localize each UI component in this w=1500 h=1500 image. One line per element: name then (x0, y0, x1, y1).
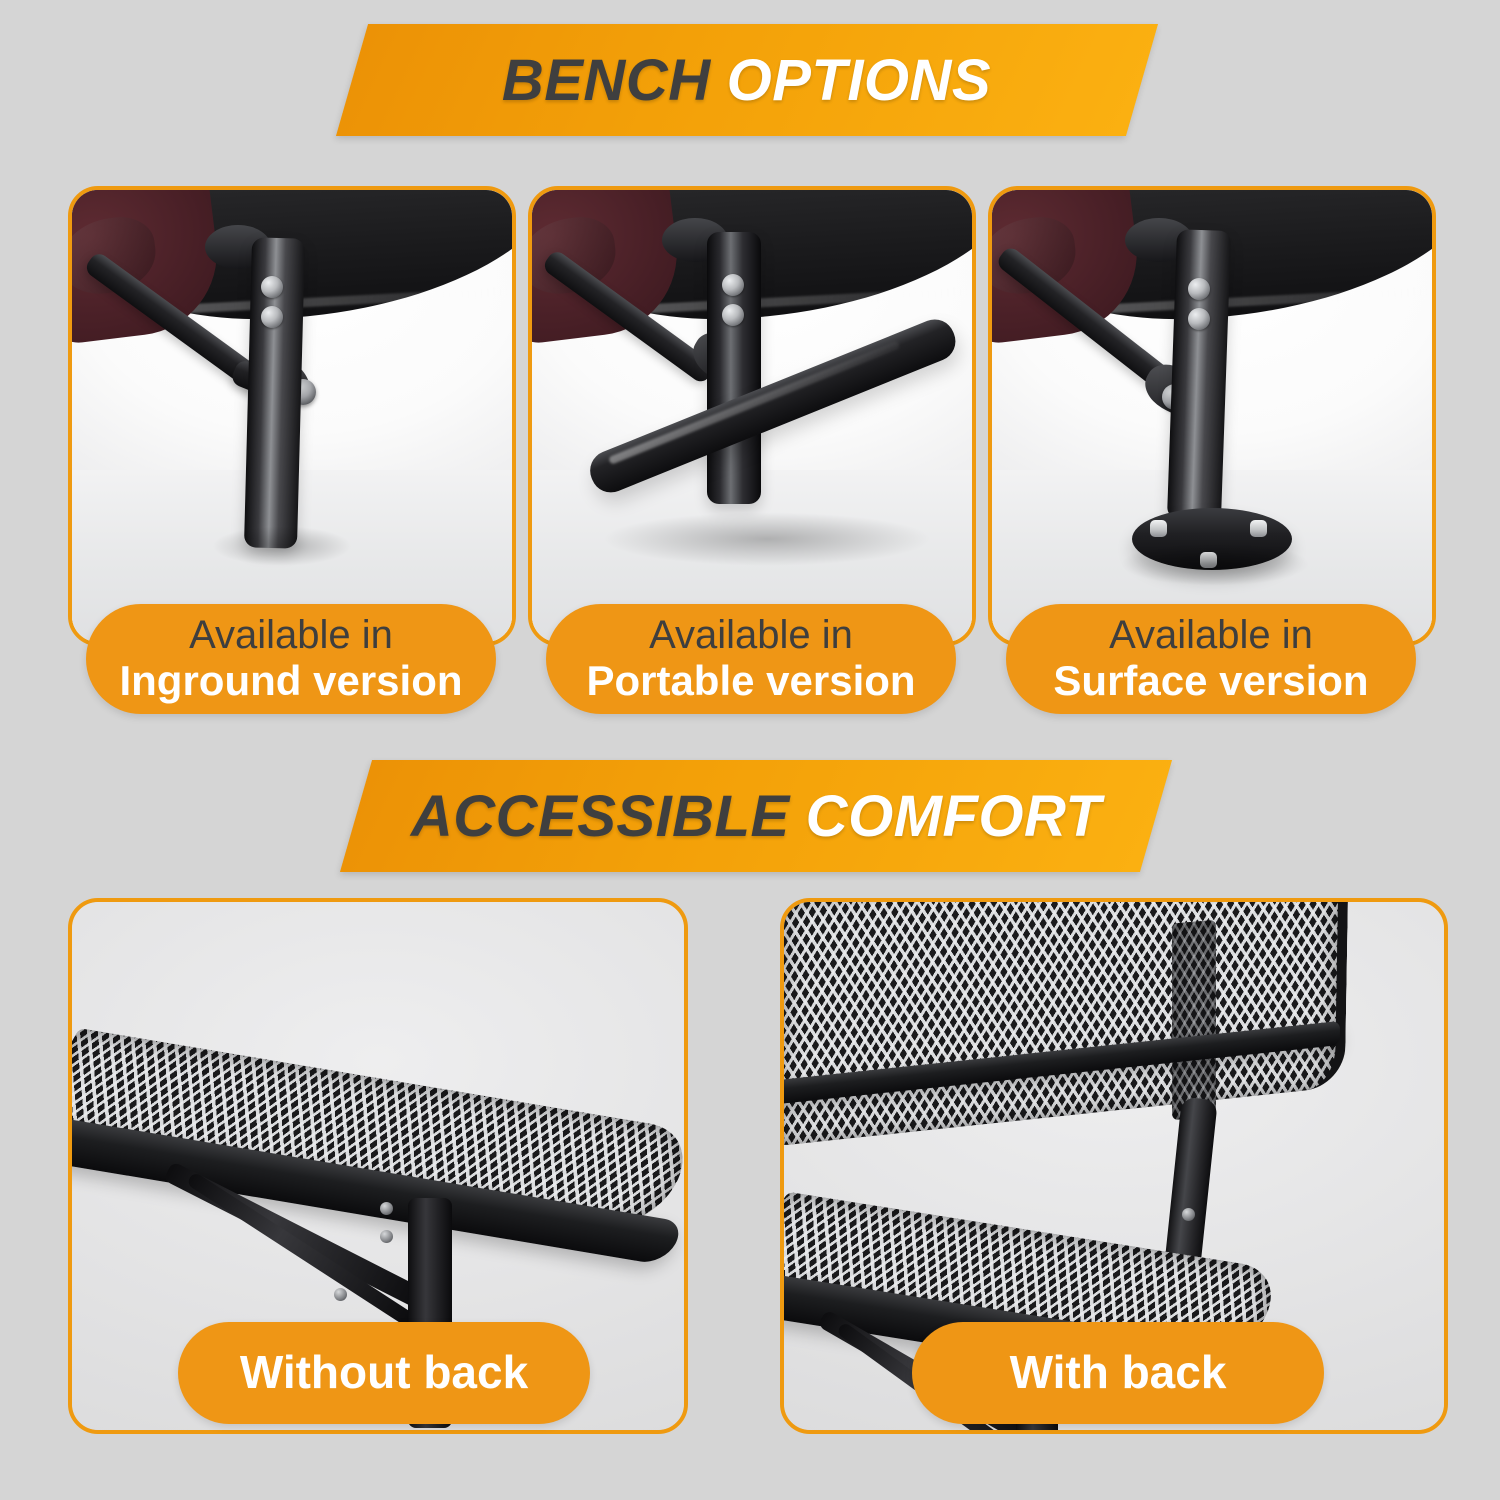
leg-post-portable (707, 232, 761, 504)
leg-bolt-upper (722, 274, 744, 296)
leg-bolt-lower (722, 304, 744, 326)
anchor-bolt-right (1250, 520, 1267, 537)
infographic-stage: BENCH OPTIONS (0, 0, 1500, 1500)
card-surface[interactable] (988, 186, 1436, 646)
support-arm-bolt (1182, 1208, 1195, 1221)
caption-line-2: Without back (240, 1347, 528, 1399)
caption-line-2: Inground version (119, 657, 462, 704)
caption-line-2: Surface version (1053, 657, 1368, 704)
caption-pill-surface: Available in Surface version (1006, 604, 1416, 714)
photo-portable (532, 190, 972, 642)
banner-word-dark: BENCH (502, 47, 711, 114)
card-inground[interactable] (68, 186, 516, 646)
caption-pill-without-back: Without back (178, 1322, 590, 1424)
post-bolt-lower (380, 1230, 393, 1243)
leg-bolt-lower (261, 306, 283, 328)
brace-pivot-bolt (334, 1288, 347, 1301)
caption-line-2: Portable version (586, 657, 915, 704)
caption-pill-inground: Available in Inground version (86, 604, 496, 714)
leg-bolt-upper (1188, 278, 1210, 300)
caption-line-1: Available in (1109, 614, 1313, 657)
leg-post-surface (1167, 229, 1231, 521)
leg-bolt-upper (261, 276, 283, 298)
banner-word-light: OPTIONS (727, 47, 992, 114)
banner-text-group: BENCH OPTIONS (502, 47, 991, 114)
ground-shadow (212, 526, 352, 566)
photo-surface (992, 190, 1432, 642)
banner-text-group: ACCESSIBLE COMFORT (411, 783, 1101, 850)
caption-line-1: Available in (649, 614, 853, 657)
banner-word-dark: ACCESSIBLE (411, 783, 790, 850)
anchor-bolt-left (1150, 520, 1167, 537)
banner-word-light: COMFORT (806, 783, 1102, 850)
backrest-gusset (1172, 920, 1216, 1121)
section-banner-accessible-comfort: ACCESSIBLE COMFORT (340, 760, 1172, 872)
caption-pill-portable: Available in Portable version (546, 604, 956, 714)
section-banner-bench-options: BENCH OPTIONS (336, 24, 1158, 136)
caption-line-2: With back (1010, 1347, 1227, 1399)
ground-shadow (1120, 542, 1310, 586)
card-portable[interactable] (528, 186, 976, 646)
ground-shadow (602, 512, 932, 566)
caption-line-1: Available in (189, 614, 393, 657)
leg-bolt-lower (1188, 308, 1210, 330)
post-bolt-upper (380, 1202, 393, 1215)
photo-inground (72, 190, 512, 642)
caption-pill-with-back: With back (912, 1322, 1324, 1424)
